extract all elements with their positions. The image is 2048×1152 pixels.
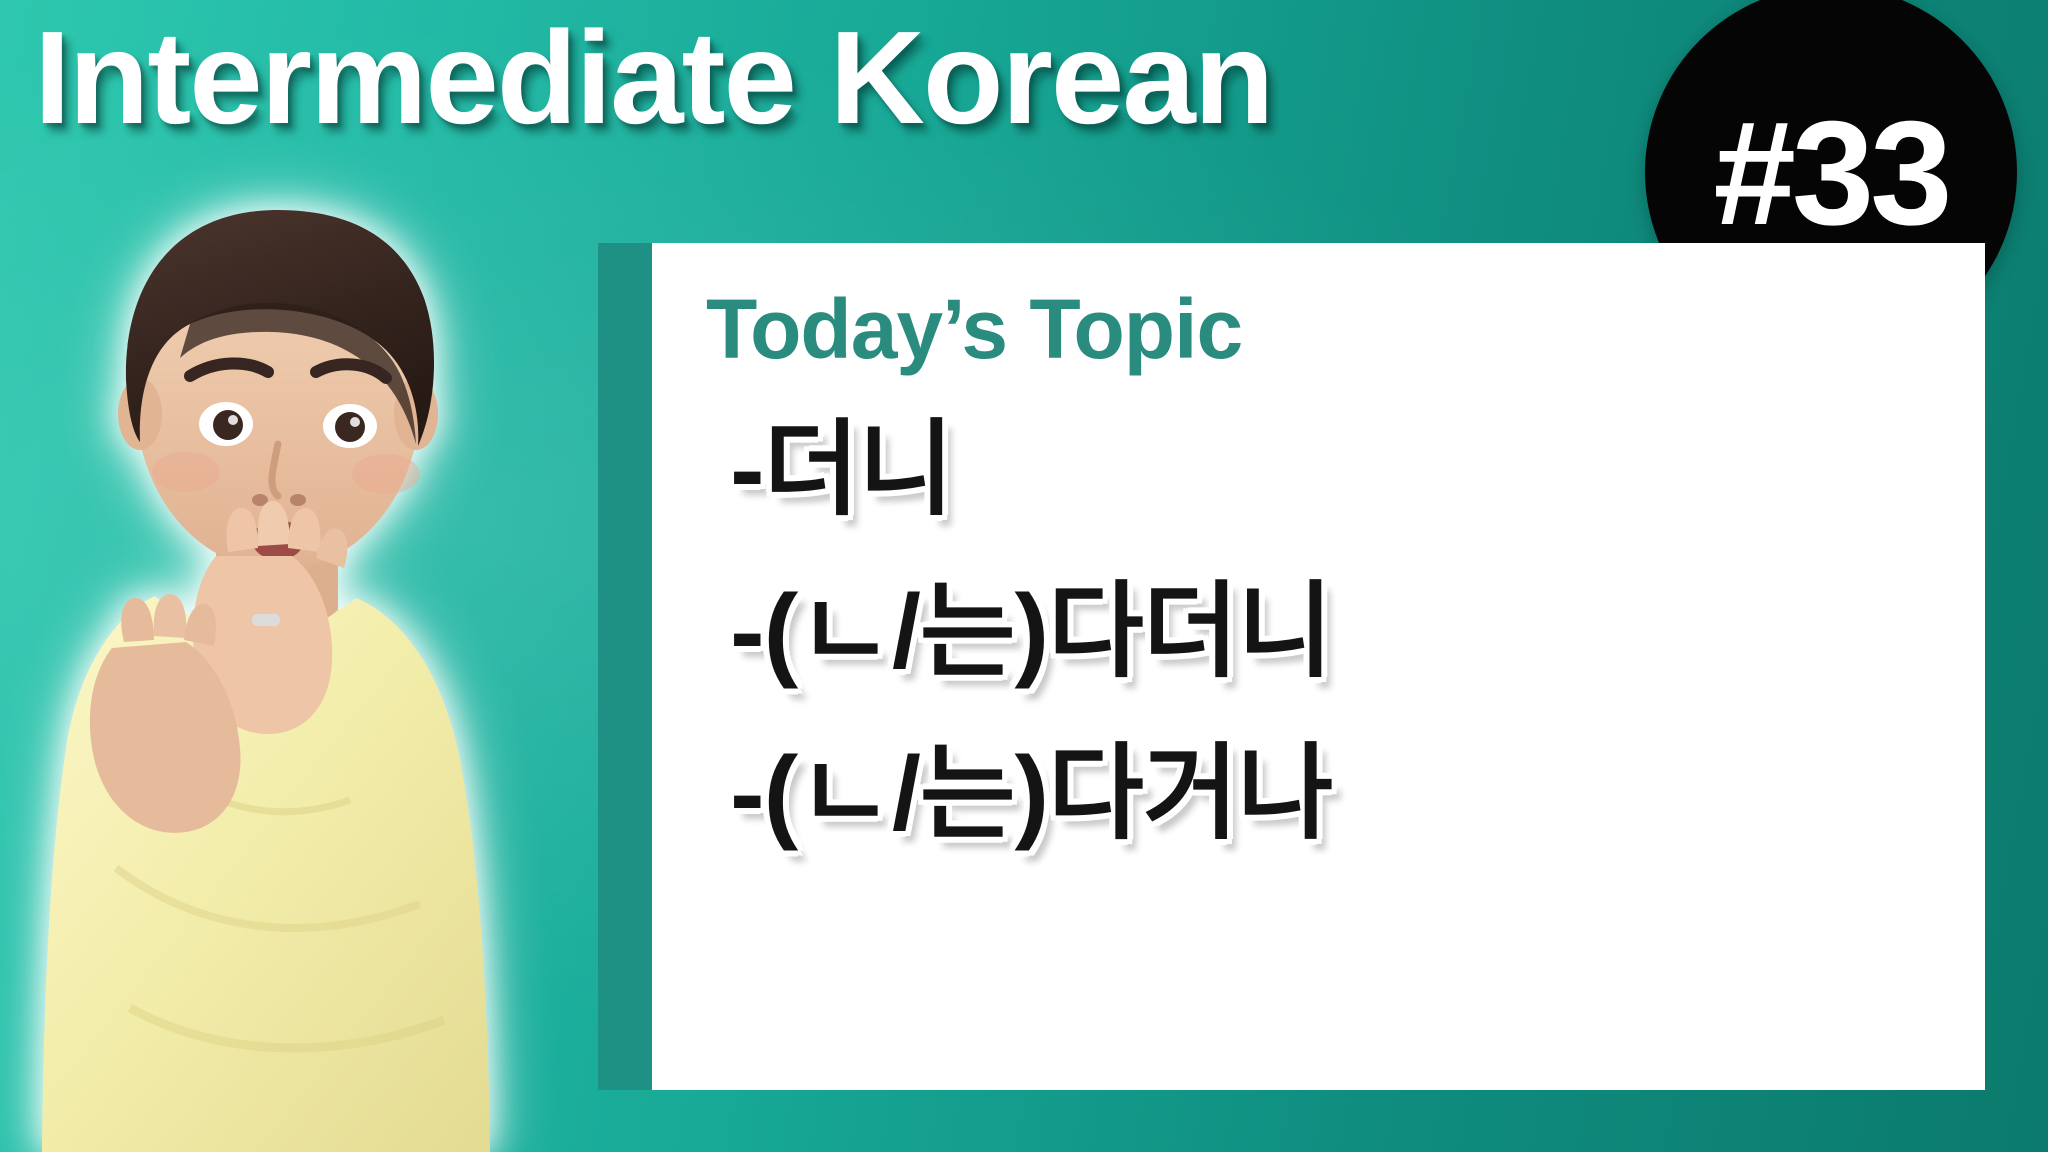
youtube-thumbnail: Intermediate Korean #33 Today’s Topic -더… xyxy=(0,0,2048,1152)
card-heading: Today’s Topic xyxy=(706,287,1242,371)
topic-list: -더니 -(ㄴ/는)다더니 -(ㄴ/는)다거나 xyxy=(730,418,1965,846)
topic-item: -(ㄴ/는)다거나 xyxy=(730,742,1965,846)
topic-item: -더니 xyxy=(730,418,1965,522)
episode-number: #33 xyxy=(1714,100,1949,248)
presenter-photo xyxy=(20,128,520,1152)
topic-card: Today’s Topic -더니 -(ㄴ/는)다더니 -(ㄴ/는)다거나 xyxy=(652,243,1985,1090)
topic-item: -(ㄴ/는)다더니 xyxy=(730,580,1965,684)
page-title: Intermediate Korean xyxy=(34,8,1272,148)
